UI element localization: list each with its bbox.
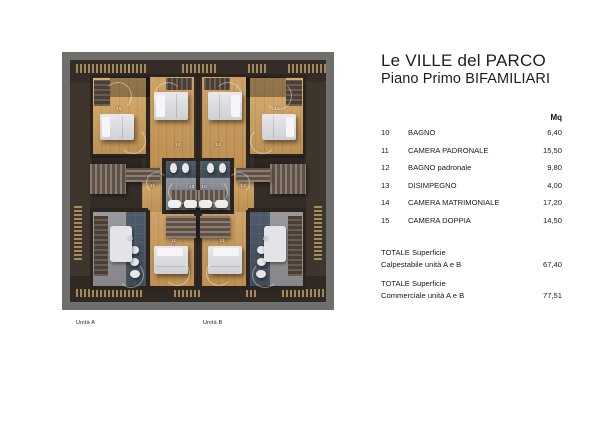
room-number-a-camera-padronale: 11 [171,238,176,243]
legend-room-name: CAMERA DOPPIA [408,216,526,225]
wall-a-7 [90,208,148,212]
wc-b-1 [219,163,226,173]
total-value: 67,40 [526,259,562,271]
battens-left-side [74,206,82,260]
tub-b-padronale [264,226,286,262]
total-label-line2: Calpestabile unità A e B [381,259,526,271]
closet-b-lower [288,216,302,276]
legend-row: 12 BAGNO padronale 9,80 [381,163,562,181]
legend-room-number: 10 [381,128,408,137]
room-number-a-bagno-padronale: 12 [128,236,134,241]
total-label-line1: TOTALE Superficie [381,278,562,290]
door-arc-b-5 [204,180,228,204]
door-arc-b-2 [214,82,242,110]
legend-row: 10 BAGNO 6,40 [381,128,562,146]
floor-plan-image: 15 14 11 10 12 11 15 14 13 10 12 11 [62,52,334,310]
legend-row: 15 CAMERA DOPPIA 14,50 [381,216,562,234]
room-number-b-camera-doppia: 15 [274,106,280,111]
legend-row: 14 CAMERA MATRIMONIALE 17,20 [381,198,562,216]
page-title: Le VILLE del PARCO [381,52,581,70]
wc-a-2 [182,163,189,173]
legend-room-number: 11 [381,146,408,155]
legend-room-name: BAGNO [408,128,526,137]
door-arc-b-4 [228,172,250,194]
wall-a-2 [90,76,93,156]
legend-room-name: CAMERA MATRIMONIALE [408,198,526,207]
wall-b-10 [196,286,306,290]
battens-bottom-center-right [246,289,256,297]
room-number-b-bagno-padronale: 12 [262,236,268,241]
legend-room-number: 14 [381,198,408,207]
wc-a-1 [170,163,177,173]
room-number-a-bagno: 10 [189,184,195,189]
battens-top-left [76,64,130,73]
wall-b-2 [303,76,306,156]
door-arc-a-2 [154,82,182,110]
wall-a-9 [90,210,93,288]
battens-bottom-left [76,289,130,297]
legend-room-area: 6,40 [526,128,562,137]
battens-top-right [288,64,326,73]
legend-room-area: 9,80 [526,163,562,172]
door-arc-a-6 [118,262,144,288]
wall-b-8 [246,210,250,288]
door-arc-a-3 [120,128,146,154]
room-number-b-camera-padronale: 11 [220,238,225,243]
unit-a-label: Unità A [76,320,95,326]
room-number-a-camera-matrimoniale: 14 [175,142,181,147]
wall-b-9 [303,210,306,288]
unit-b-label: Unità B [203,320,222,326]
title-block: Le VILLE del PARCO Piano Primo BIFAMILIA… [381,52,581,88]
wall-a-4 [162,158,200,161]
battens-top-center-right [248,64,266,73]
battens-bottom-center-left [132,289,142,297]
legend-room-area: 17,20 [526,198,562,207]
legend-room-number: 12 [381,163,408,172]
door-arc-b-7 [206,260,232,286]
stair-a-center [166,216,196,238]
wall-b-4 [196,158,234,161]
door-arc-b-3 [250,128,276,154]
legend-room-number: 13 [381,181,408,190]
legend-room-area: 14,50 [526,216,562,225]
room-legend-table: 10 BAGNO 6,40 11 CAMERA PADRONALE 15,50 … [381,128,562,233]
party-wall [196,74,200,290]
wc-b-2 [207,163,214,173]
wall-a-8 [146,210,150,288]
legend-room-name: DISIMPEGNO [408,181,526,190]
door-arc-b-6 [252,262,278,288]
legend-row: 13 DISIMPEGNO 4,00 [381,181,562,199]
plan-canvas: 15 14 11 10 12 11 15 14 13 10 12 11 [70,60,326,302]
page-subtitle: Piano Primo BIFAMILIARI [381,71,581,88]
room-number-a-disimpegno: 11 [150,183,155,188]
battens-right-side [314,206,322,260]
roof-right [306,60,326,302]
room-number-b-disimpegno: 13 [240,183,246,188]
closet-a-lower [94,216,108,276]
total-label-line1: TOTALE Superficie [381,247,562,259]
total-row: TOTALE Superficie Calpestabile unità A e… [381,247,562,270]
legend-room-area: 15,50 [526,146,562,155]
legend-row: 11 CAMERA PADRONALE 15,50 [381,146,562,164]
battens-bottom-right [282,289,326,297]
wall-a-10 [90,286,200,290]
drawing-sheet: 15 14 11 10 12 11 15 14 13 10 12 11 Unit… [0,0,600,424]
legend-room-area: 4,00 [526,181,562,190]
wall-b-7 [248,208,306,212]
legend-header-mq: Mq [381,113,562,122]
battens-top-center-left [128,64,146,73]
door-arc-a-7 [164,260,190,286]
total-row: TOTALE Superficie Commerciale unità A e … [381,278,562,301]
wall-a-6 [162,210,200,214]
total-value: 77,51 [526,290,562,302]
wall-b-6 [196,210,234,214]
total-label-line2: Commerciale unità A e B [381,290,526,302]
tub-a-padronale [110,226,132,262]
legend-room-name: CAMERA PADRONALE [408,146,526,155]
stair-b-landing [270,164,306,194]
stair-a-landing [90,164,126,194]
room-number-b-bagno: 10 [201,184,207,189]
room-number-a-camera-doppia: 15 [116,106,122,111]
legend-room-number: 15 [381,216,408,225]
roof-left [70,60,90,302]
stair-b-center [200,216,230,238]
room-number-b-camera-matrimoniale: 14 [215,142,221,147]
battens-bottom-center [174,289,200,297]
totals-block: TOTALE Superficie Calpestabile unità A e… [381,247,562,309]
battens-top-center [182,64,216,73]
legend-room-name: BAGNO padronale [408,163,526,172]
